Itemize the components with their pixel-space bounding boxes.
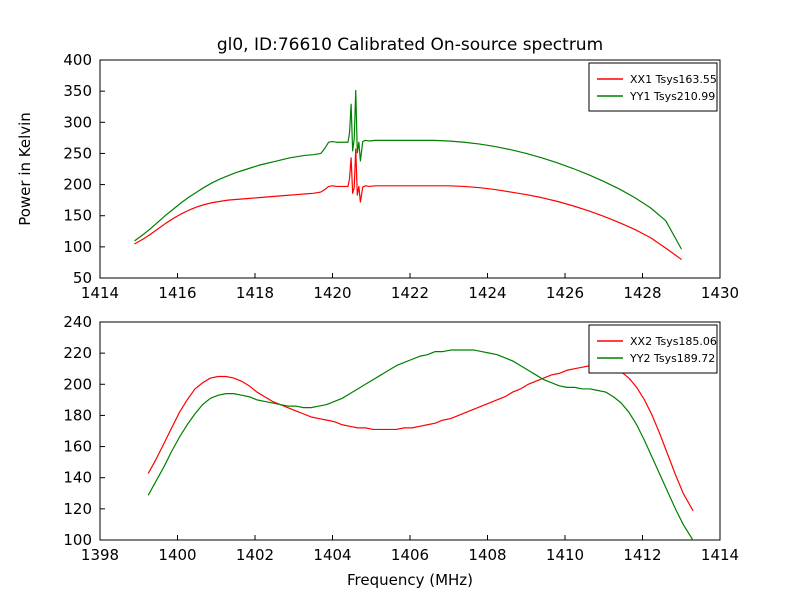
y-axis-label-top: Power in Kelvin xyxy=(16,112,34,226)
xtick-label-top-4: 1422 xyxy=(391,284,429,302)
ytick-label-bottom-0: 100 xyxy=(63,531,92,549)
series-line-bottom-0 xyxy=(148,366,692,511)
legend-box-top xyxy=(589,63,717,111)
xtick-label-bottom-1: 1400 xyxy=(158,546,196,564)
xtick-label-bottom-2: 1402 xyxy=(236,546,274,564)
ytick-label-bottom-5: 200 xyxy=(63,375,92,393)
xtick-label-bottom-6: 1410 xyxy=(546,546,584,564)
ytick-label-top-0: 50 xyxy=(73,269,92,287)
ytick-label-bottom-3: 160 xyxy=(63,438,92,456)
series-line-top-0 xyxy=(135,149,681,259)
ytick-label-top-5: 300 xyxy=(63,113,92,131)
ytick-label-bottom-4: 180 xyxy=(63,406,92,424)
x-axis-label-bottom: Frequency (MHz) xyxy=(347,571,473,589)
legend-label-bottom-1: YY2 Tsys189.72 xyxy=(629,352,715,365)
xtick-label-top-6: 1426 xyxy=(546,284,584,302)
spectrum-plot-canvas: 1414141614181420142214241426142814305010… xyxy=(0,0,800,600)
xtick-label-top-5: 1424 xyxy=(468,284,506,302)
ytick-label-top-1: 100 xyxy=(63,238,92,256)
ytick-label-top-2: 150 xyxy=(63,207,92,225)
xtick-label-bottom-4: 1406 xyxy=(391,546,429,564)
xtick-label-bottom-3: 1404 xyxy=(313,546,351,564)
legend-label-top-1: YY1 Tsys210.99 xyxy=(629,90,715,103)
legend-label-bottom-0: XX2 Tsys185.06 xyxy=(630,335,717,348)
series-line-bottom-1 xyxy=(148,350,692,540)
chart-title-top: gl0, ID:76610 Calibrated On-source spect… xyxy=(217,35,603,55)
ytick-label-top-4: 250 xyxy=(63,144,92,162)
ytick-label-top-3: 200 xyxy=(63,176,92,194)
xtick-label-top-8: 1430 xyxy=(701,284,739,302)
xtick-label-top-3: 1420 xyxy=(313,284,351,302)
xtick-label-bottom-7: 1412 xyxy=(623,546,661,564)
axes-bottom: 1398140014021404140614081410141214141001… xyxy=(63,313,739,589)
legend-top[interactable]: XX1 Tsys163.55YY1 Tsys210.99 xyxy=(589,63,717,111)
ytick-label-bottom-2: 140 xyxy=(63,469,92,487)
legend-bottom[interactable]: XX2 Tsys185.06YY2 Tsys189.72 xyxy=(589,325,717,373)
ytick-label-top-7: 400 xyxy=(63,51,92,69)
xtick-label-bottom-5: 1408 xyxy=(468,546,506,564)
xtick-label-top-1: 1416 xyxy=(158,284,196,302)
ytick-label-top-6: 350 xyxy=(63,82,92,100)
xtick-label-top-7: 1428 xyxy=(623,284,661,302)
ytick-label-bottom-6: 220 xyxy=(63,344,92,362)
ytick-label-bottom-1: 120 xyxy=(63,500,92,518)
series-line-top-1 xyxy=(135,91,681,249)
legend-label-top-0: XX1 Tsys163.55 xyxy=(630,73,717,86)
xtick-label-bottom-8: 1414 xyxy=(701,546,739,564)
axes-top: 1414141614181420142214241426142814305010… xyxy=(16,35,739,302)
xtick-label-top-2: 1418 xyxy=(236,284,274,302)
ytick-label-bottom-7: 240 xyxy=(63,313,92,331)
spectrum-figure: 1414141614181420142214241426142814305010… xyxy=(0,0,800,600)
legend-box-bottom xyxy=(589,325,717,373)
